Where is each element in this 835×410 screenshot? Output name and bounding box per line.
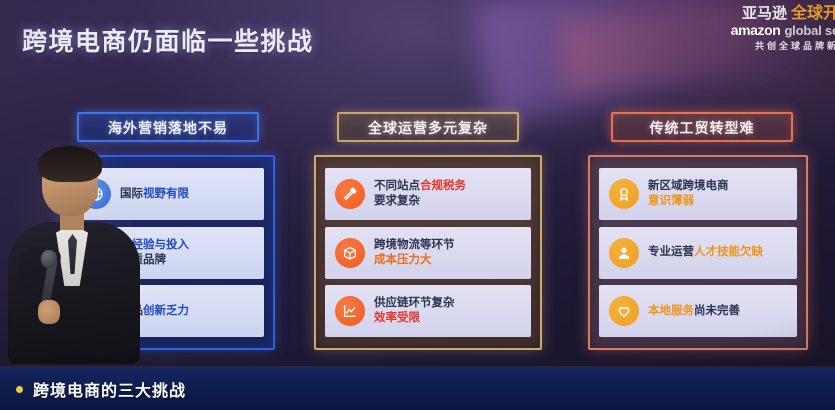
challenge-card: 国际视野有限 [71, 168, 264, 220]
challenge-card-line: 供应链环节复杂 [374, 296, 455, 311]
challenge-card-text-segment: 跨境物流等环节 [374, 239, 455, 251]
challenge-card-text: 国际视野有限 [120, 187, 189, 202]
challenge-card-line: 乏经验与投入 [120, 238, 189, 253]
challenge-card-line: 本地服务尚未完善 [648, 304, 740, 319]
challenge-card-text-segment: 人才技能欠缺 [694, 246, 763, 258]
challenge-card-line: 跨境物流等环节 [374, 238, 455, 253]
challenge-card: 跨境物流等环节成本压力大 [325, 227, 531, 279]
challenge-card-line: 要求复杂 [374, 194, 466, 209]
package-icon [335, 238, 365, 268]
challenge-card-line: 意识薄弱 [648, 194, 729, 209]
challenge-card-text-segment: 要求复杂 [374, 195, 420, 207]
challenge-card-line: 产品创新乏力 [120, 304, 189, 319]
caption-bar: 跨境电商的三大挑战 [0, 368, 835, 410]
logo-amazon-en: amazon [731, 23, 781, 37]
presentation-screenshot: 跨境电商仍面临一些挑战 亚马逊 全球开 amazon global se 共创全… [0, 0, 835, 410]
chart-bar-icon [81, 238, 111, 268]
challenge-card-line: 成本压力大 [374, 253, 455, 268]
challenge-card-text-segment: 新区域跨境电商 [648, 180, 729, 192]
challenge-panel-global-operations: 不同站点合规税务要求复杂跨境物流等环节成本压力大供应链环节复杂效率受限 [314, 155, 542, 350]
challenge-card: 新区域跨境电商意识薄弱 [599, 168, 797, 220]
challenge-card-text-segment: 成本压力大 [374, 254, 432, 266]
speaker-arm [8, 244, 61, 360]
globe-icon [81, 179, 111, 209]
challenge-card-text: 专业运营人才技能欠缺 [648, 245, 763, 260]
challenge-card: 本地服务尚未完善 [599, 285, 797, 337]
microphone-handle [39, 258, 58, 315]
challenge-card-text: 跨境物流等环节成本压力大 [374, 238, 455, 267]
caption-text: 跨境电商的三大挑战 [33, 377, 186, 401]
challenge-card: 产品创新乏力 [71, 285, 264, 337]
lightbulb-icon [81, 296, 111, 326]
challenge-card-line: 国际视野有限 [120, 187, 189, 202]
challenge-panel-traditional-trade: 新区域跨境电商意识薄弱专业运营人才技能欠缺本地服务尚未完善 [588, 155, 808, 350]
challenge-card-text-segment: 本地服务 [648, 305, 694, 317]
logo-global-selling-en: global se [784, 24, 835, 37]
challenge-card: 供应链环节复杂效率受限 [325, 285, 531, 337]
challenge-card-text: 产品创新乏力 [120, 304, 189, 319]
user-person-icon [609, 238, 639, 268]
challenge-card-text: 不同站点合规税务要求复杂 [374, 179, 466, 208]
challenge-card: 专业运营人才技能欠缺 [599, 227, 797, 279]
logo-tagline: 共创全球品牌新 [731, 42, 835, 51]
challenge-card-text: 供应链环节复杂效率受限 [374, 296, 455, 325]
challenge-card-text-segment: 效率受限 [374, 312, 420, 324]
logo-chinese-row: 亚马逊 全球开 [731, 6, 835, 22]
amazon-global-selling-logo: 亚马逊 全球开 amazon global se 共创全球品牌新 [731, 6, 835, 51]
challenge-card-line: 效率受限 [374, 311, 455, 326]
challenge-card-text-segment: 优质品牌 [120, 254, 166, 266]
column-header-traditional-trade: 传统工贸转型难 [611, 112, 793, 142]
bullet-icon [16, 386, 23, 393]
challenge-card-line: 优质品牌 [120, 253, 189, 268]
gavel-icon [335, 179, 365, 209]
challenge-panel-overseas-marketing: 国际视野有限乏经验与投入优质品牌产品创新乏力 [60, 155, 275, 350]
challenge-card-text-segment: 乏经验与投入 [120, 239, 189, 251]
slide-title: 跨境电商仍面临一些挑战 [22, 22, 314, 58]
challenge-card-text-segment: 尚未完善 [694, 305, 740, 317]
challenge-card-text-segment: 产品 [120, 305, 143, 317]
speaker-hand [38, 300, 60, 324]
challenge-card-text-segment: 合规税务 [420, 180, 466, 192]
challenge-card: 不同站点合规税务要求复杂 [325, 168, 531, 220]
badge-award-icon [609, 179, 639, 209]
heart-icon [609, 296, 639, 326]
logo-english-row: amazon global se [731, 23, 835, 37]
logo-global-cn: 全球开 [791, 6, 835, 22]
challenge-card-text: 新区域跨境电商意识薄弱 [648, 179, 729, 208]
logo-amazon-cn: 亚马逊 [742, 6, 787, 21]
column-header-overseas-marketing: 海外营销落地不易 [77, 112, 259, 142]
challenge-card: 乏经验与投入优质品牌 [71, 227, 264, 279]
column-header-global-operations: 全球运营多元复杂 [337, 112, 519, 142]
challenge-card-text-segment: 视野有限 [143, 188, 189, 200]
challenge-card-text-segment: 供应链环节复杂 [374, 297, 455, 309]
challenge-card-line: 新区域跨境电商 [648, 179, 729, 194]
challenge-card-text: 本地服务尚未完善 [648, 304, 740, 319]
trend-chart-icon [335, 296, 365, 326]
microphone-icon [41, 250, 57, 268]
challenge-card-line: 专业运营人才技能欠缺 [648, 245, 763, 260]
challenge-card-text-segment: 不同站点 [374, 180, 420, 192]
challenge-card-text-segment: 创新乏力 [143, 305, 189, 317]
challenge-card-text-segment: 意识薄弱 [648, 195, 694, 207]
challenge-card-text-segment: 专业运营 [648, 246, 694, 258]
challenge-card-text-segment: 国际 [120, 188, 143, 200]
challenge-card-line: 不同站点合规税务 [374, 179, 466, 194]
challenge-card-text: 乏经验与投入优质品牌 [120, 238, 189, 267]
